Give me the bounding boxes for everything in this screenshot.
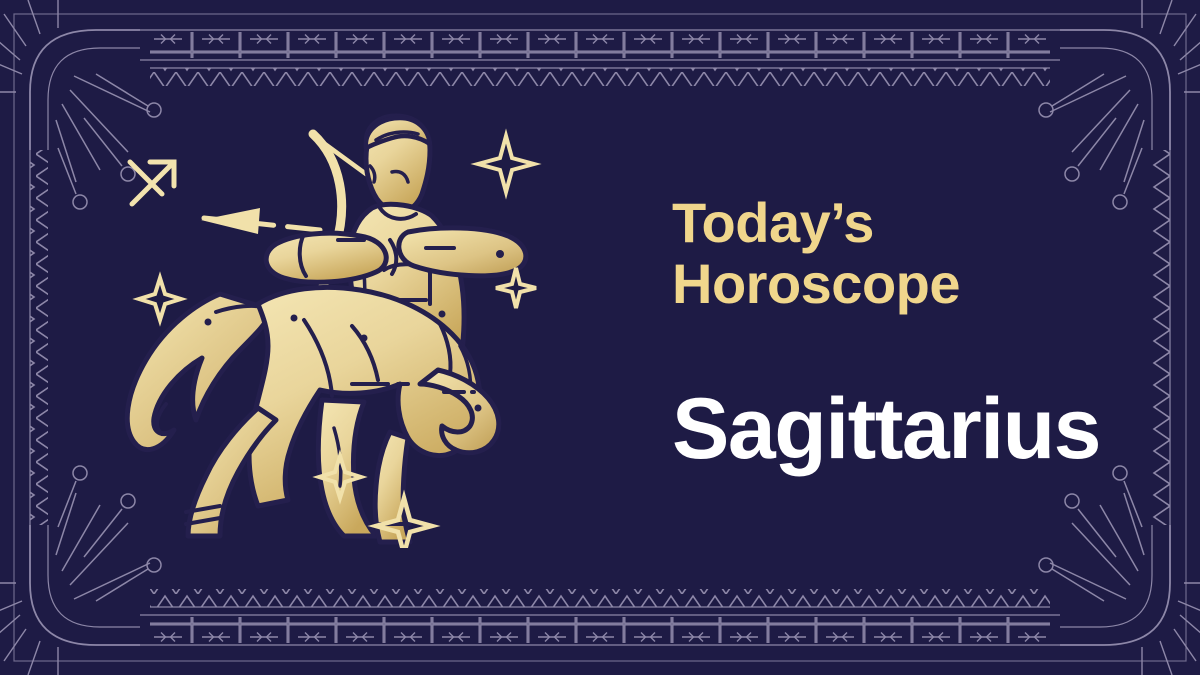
corner-pin-circle [1065,167,1079,181]
sparkle-star-icon [139,278,181,320]
border-left-band [30,150,48,525]
sparkle-star-icon [478,136,534,192]
border-right-band [1152,150,1170,525]
corner-ornament-top-right [1039,0,1200,209]
corner-pin-circle [1065,494,1079,508]
zodiac-sign-name: Sagittarius [672,386,1142,472]
border-bottom-band [140,589,1060,645]
page-title-headline: Today’s Horoscope [672,192,1142,314]
sagittarius-glyph-icon [130,162,174,204]
headline-text-block: Today’s Horoscope Sagittarius [672,192,1142,472]
border-top-band [140,30,1060,86]
corner-pin-circle [73,466,87,480]
corner-pin-circle [147,558,161,572]
corner-sunburst-rays [0,583,58,675]
horoscope-card: Today’s Horoscope Sagittarius [0,0,1200,675]
sagittarius-illustration [108,108,578,548]
corner-pin-circle [1039,103,1053,117]
arrow [201,208,320,234]
corner-sunburst-rays [1142,0,1200,92]
corner-pin-circle [1039,558,1053,572]
corner-sunburst-rays [1142,583,1200,675]
corner-pin-circle [73,195,87,209]
corner-sunburst-rays [0,0,58,92]
archer-head [366,116,430,212]
corner-ornament-bottom-right [1039,466,1200,675]
